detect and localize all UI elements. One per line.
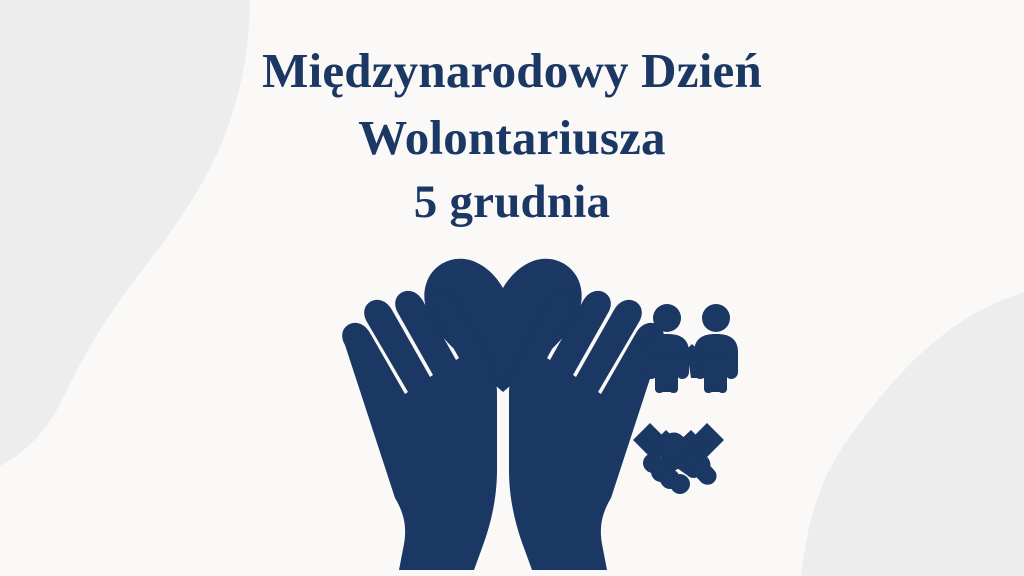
- person-right-leg: [704, 355, 713, 393]
- person-right-leg-2: [718, 355, 727, 393]
- person-left-leg-2: [669, 355, 678, 393]
- poster-canvas: Międzynarodowy Dzień Wolontariusza 5 gru…: [0, 0, 1024, 576]
- title-block: Międzynarodowy Dzień Wolontariusza 5 gru…: [0, 38, 1024, 235]
- left-hand-shape: [342, 290, 497, 570]
- handshake-finger-4: [670, 474, 690, 494]
- person-right-body: [694, 334, 738, 392]
- person-left-leg: [655, 355, 664, 393]
- person-left-body: [645, 334, 689, 392]
- two-people-holding-hands-icon: [645, 304, 738, 393]
- title-line-1: Międzynarodowy Dzień: [40, 38, 984, 105]
- handshake-icon: [633, 423, 724, 494]
- right-hand-shape: [509, 290, 664, 570]
- title-line-3: 5 grudnia: [40, 171, 984, 235]
- person-right-head: [702, 304, 730, 332]
- person-left-head: [653, 304, 681, 332]
- title-line-2: Wolontariusza: [40, 105, 984, 172]
